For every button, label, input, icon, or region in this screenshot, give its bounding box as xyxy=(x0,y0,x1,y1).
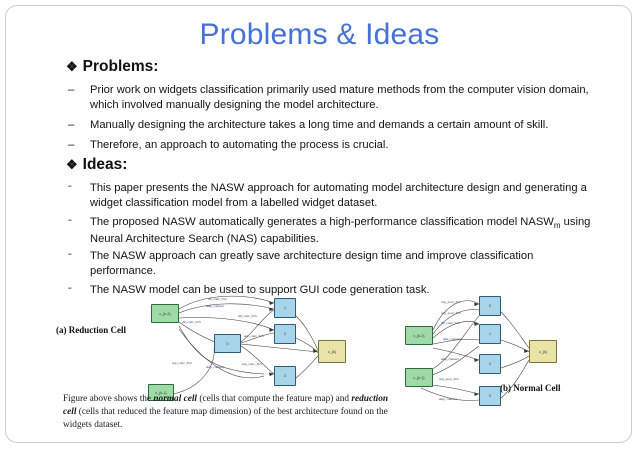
section-heading-problems: ❖Problems: xyxy=(66,58,158,76)
edge-label-group: dil_conv_5x5 skip_connect dil_conv_5x5 d… xyxy=(172,297,264,369)
list-item: ˗ This paper presents the NASW approach … xyxy=(68,181,593,211)
slide: Problems & Ideas ❖Problems: – Prior work… xyxy=(5,5,632,443)
edge-label: dil_conv_5x5 xyxy=(182,320,201,324)
node-mid-0: 0 xyxy=(214,334,241,353)
edge-label: dil_conv_5x5 xyxy=(441,321,460,325)
list-item: ˗ The NASW approach can greatly save arc… xyxy=(68,249,593,279)
normal-cell-diagram: avg_pool_3x3 avg_pool_3x3 dil_conv_5x5 s… xyxy=(391,294,571,414)
node-mid-2: 2 xyxy=(479,354,501,374)
list-item: – Manually designing the architecture ta… xyxy=(68,118,593,133)
list-item-text: Manually designing the architecture take… xyxy=(90,118,593,133)
edge-label: sep_conv_3x3 xyxy=(172,361,192,365)
node-mid-3: 3 xyxy=(274,366,296,386)
figure-caption: Figure above shows the normal cell (cell… xyxy=(63,393,393,431)
section-heading-problems-label: Problems: xyxy=(83,58,159,75)
edge-label: avg_pool_3x3 xyxy=(439,377,459,381)
page-title: Problems & Ideas xyxy=(6,18,632,52)
list-item-text: The NASW approach can greatly save archi… xyxy=(90,249,593,279)
node-mid-1: 1 xyxy=(479,324,501,344)
edge-label: skip_connect xyxy=(443,337,461,341)
reduction-cell-label: (a) Reduction Cell xyxy=(56,325,126,335)
list-marker: – xyxy=(68,138,82,153)
edge-label: skip_connect xyxy=(439,397,457,401)
section-heading-ideas-label: Ideas: xyxy=(83,156,128,173)
list-item: ˗ The proposed NASW automatically genera… xyxy=(68,215,593,247)
list-marker: ˗ xyxy=(68,215,82,224)
edge-label: skip_connect xyxy=(206,304,224,308)
list-item-text: The proposed NASW automatically generate… xyxy=(90,215,593,247)
node-mid-3: 3 xyxy=(479,386,501,406)
node-input-ck1: c_{k-1} xyxy=(405,368,433,387)
edge-label: skip_connect xyxy=(441,357,459,361)
list-item-text: This paper presents the NASW approach fo… xyxy=(90,181,593,211)
list-marker: – xyxy=(68,83,82,98)
diamond-bullet-icon: ❖ xyxy=(66,157,78,172)
edge-arrowheads xyxy=(474,303,529,396)
node-output-ck: c_{k} xyxy=(318,340,346,363)
list-item-text: Therefore, an approach to automating the… xyxy=(90,138,593,153)
list-item: – Prior work on widgets classification p… xyxy=(68,83,593,113)
reduction-cell-diagram: dil_conv_5x5 skip_connect dil_conv_5x5 d… xyxy=(146,296,361,401)
list-marker: ˗ xyxy=(68,249,82,258)
node-output-ck: c_{k} xyxy=(529,340,557,363)
list-item-text: Prior work on widgets classification pri… xyxy=(90,83,593,113)
list-marker: – xyxy=(68,118,82,133)
edge-label: dil_conv_5x5 xyxy=(208,297,227,301)
diamond-bullet-icon: ❖ xyxy=(66,59,78,74)
edge-label: avg_pool_3x3 xyxy=(441,311,461,315)
section-heading-ideas: ❖Ideas: xyxy=(66,156,127,174)
edge-label: skip_connect xyxy=(206,365,224,369)
node-mid-2: 2 xyxy=(274,324,296,344)
node-mid-0: 0 xyxy=(479,296,501,316)
node-input-ck2: c_{k-2} xyxy=(151,304,179,323)
edge-label: sep_conv_3x3 xyxy=(244,334,264,338)
list-marker: ˗ xyxy=(68,181,82,190)
edge-label: dil_conv_5x5 xyxy=(238,314,257,318)
list-marker: ˗ xyxy=(68,283,82,292)
list-item: – Therefore, an approach to automating t… xyxy=(68,138,593,153)
edge-label: sep_conv_3x3 xyxy=(242,362,262,366)
node-mid-1: 1 xyxy=(274,298,296,318)
node-input-ck2: c_{k-2} xyxy=(405,326,433,345)
edge-label: avg_pool_3x3 xyxy=(441,300,461,304)
